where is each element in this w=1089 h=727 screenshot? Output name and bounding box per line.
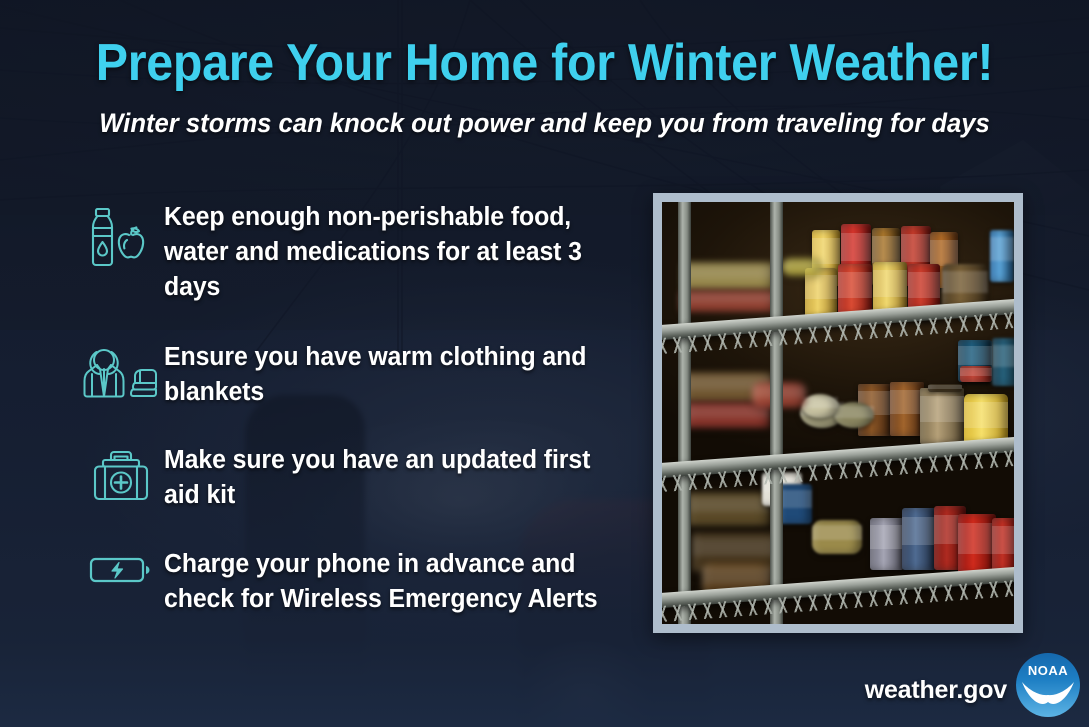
winter-jacket-and-blanket-icon (78, 340, 164, 402)
pantry-item (802, 394, 838, 418)
list-item-label: Make sure you have an updated first aid … (164, 443, 622, 513)
pantry-box (890, 382, 924, 436)
pantry-item (992, 338, 1014, 386)
pantry-can (920, 388, 964, 444)
list-item-label: Keep enough non-perishable food, water a… (164, 200, 622, 305)
pantry-can (902, 508, 936, 570)
list-item: Charge your phone in advance and check f… (78, 547, 634, 617)
shelf-post (678, 202, 691, 624)
pantry-item (682, 262, 774, 290)
shelf-post (770, 202, 783, 624)
noaa-logo: NOAA (1015, 652, 1081, 718)
page-title: Prepare Your Home for Winter Weather! (38, 36, 1051, 91)
pantry-item (688, 492, 770, 526)
pantry-can-lid (928, 384, 962, 392)
pantry-item (834, 402, 874, 428)
list-item: Keep enough non-perishable food, water a… (78, 200, 634, 305)
pantry-photo-frame (653, 193, 1023, 633)
battery-charging-icon (78, 547, 164, 587)
weather-gov-label: weather.gov (865, 676, 1007, 705)
pantry-can (870, 518, 904, 570)
pantry-item (782, 258, 822, 276)
pantry-photo (662, 202, 1014, 624)
water-bottle-and-apple-icon (78, 200, 164, 272)
pantry-item (778, 484, 812, 524)
list-item-label: Ensure you have warm clothing and blanke… (164, 340, 622, 410)
first-aid-kit-icon (78, 443, 164, 503)
winter-weather-preparedness-poster: Prepare Your Home for Winter Weather! Wi… (0, 0, 1089, 727)
list-item-label: Charge your phone in advance and check f… (164, 547, 622, 617)
pantry-item (680, 290, 776, 312)
list-item: Ensure you have warm clothing and blanke… (78, 340, 634, 410)
pantry-item (812, 520, 862, 554)
noaa-logo-text: NOAA (1028, 663, 1068, 678)
list-item: Make sure you have an updated first aid … (78, 443, 634, 513)
page-subtitle: Winter storms can knock out power and ke… (27, 108, 1062, 139)
pantry-can (960, 366, 992, 382)
pantry-item (990, 230, 1014, 282)
